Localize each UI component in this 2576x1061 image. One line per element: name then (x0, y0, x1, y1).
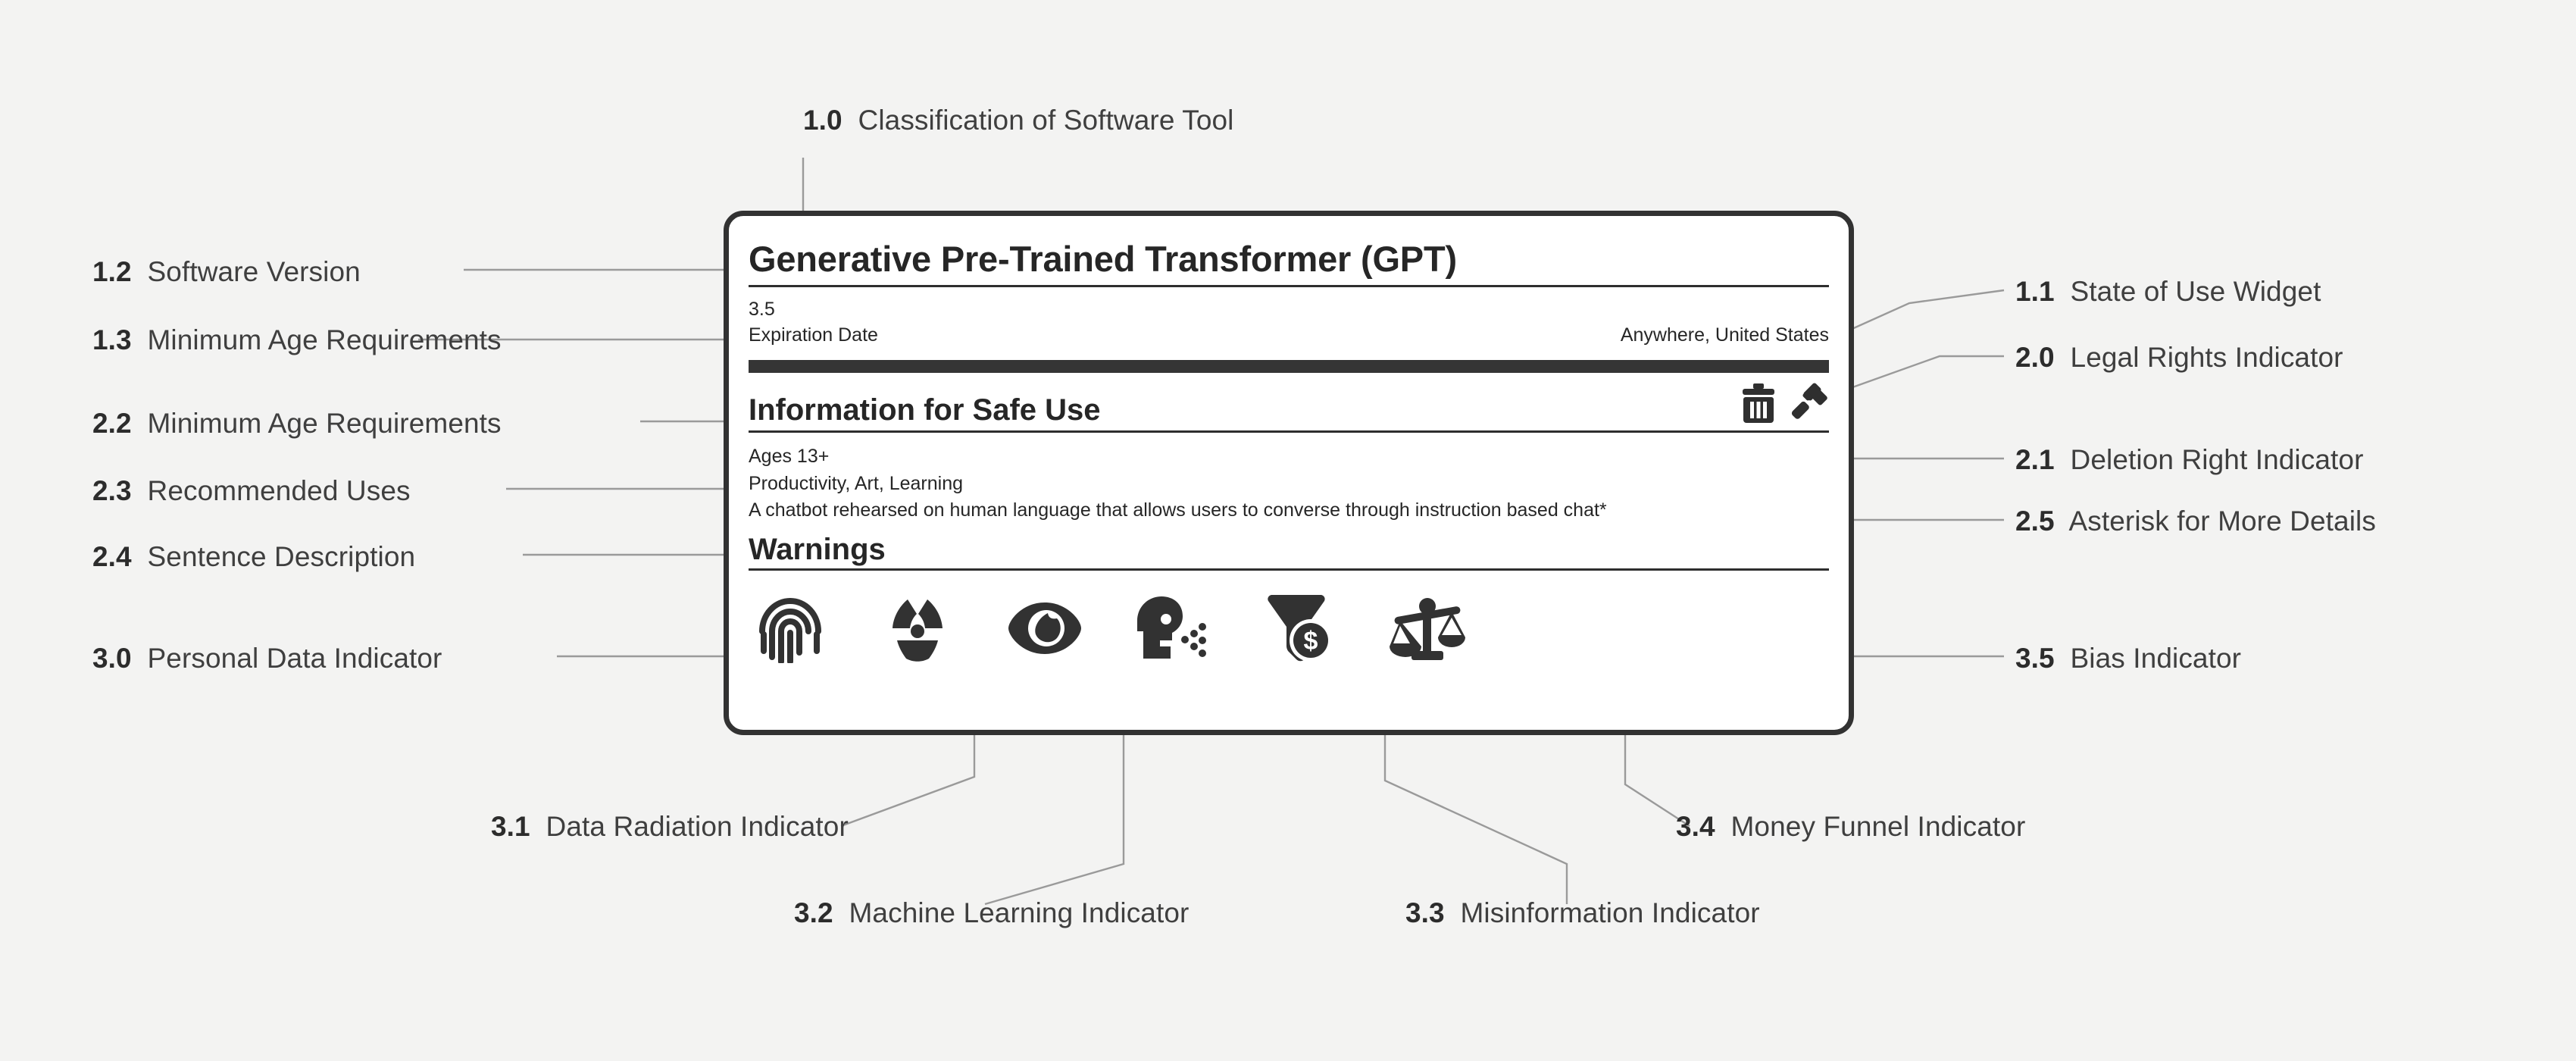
gavel-icon[interactable] (1788, 382, 1829, 424)
annotation-2-4: 2.4 Sentence Description (92, 543, 415, 571)
state-of-use-widget: Anywhere, United States (1621, 322, 1829, 348)
trash-icon[interactable] (1740, 382, 1777, 424)
safe-use-header: Information for Safe Use (749, 373, 1829, 430)
annotation-text: Minimum Age Requirements (148, 324, 502, 355)
annotation-text: Money Funnel Indicator (1731, 811, 2026, 842)
card-title: Generative Pre-Trained Transformer (GPT) (749, 230, 1829, 285)
eye-icon[interactable] (1003, 593, 1086, 663)
warnings-heading: Warnings (749, 534, 1829, 565)
warnings-header: Warnings (749, 524, 1829, 568)
software-version-value: 3.5 (749, 296, 775, 322)
card-meta: 3.5 Expiration Date Anywhere, United Sta… (749, 287, 1829, 348)
annotation-number: 1.1 (2015, 276, 2062, 307)
annotation-text: Asterisk for More Details (2068, 505, 2376, 537)
annotation-text: Recommended Uses (148, 475, 411, 506)
recommended-uses: Productivity, Art, Learning (749, 471, 1829, 498)
annotation-number: 3.4 (1676, 811, 1723, 842)
radiation-icon[interactable] (876, 593, 959, 663)
annotation-text: Data Radiation Indicator (546, 811, 849, 842)
fingerprint-icon[interactable] (749, 593, 832, 663)
money-funnel-icon[interactable]: $ (1258, 593, 1341, 663)
annotation-3-0: 3.0 Personal Data Indicator (92, 644, 442, 672)
annotation-1-2: 1.2 Software Version (92, 258, 361, 286)
software-nutrition-label-card: Generative Pre-Trained Transformer (GPT)… (724, 211, 1854, 735)
balance-scale-icon[interactable] (1385, 593, 1468, 663)
annotation-1-3: 1.3 Minimum Age Requirements (92, 326, 502, 354)
annotation-text: Misinformation Indicator (1461, 897, 1760, 928)
annotation-3-3: 3.3 Misinformation Indicator (1405, 899, 1760, 927)
annotation-number: 3.2 (794, 897, 841, 928)
expiration-row: Expiration Date Anywhere, United States (749, 322, 1829, 348)
safe-use-body: Ages 13+ Productivity, Art, Learning A c… (749, 433, 1829, 524)
annotation-number: 2.3 (92, 475, 139, 506)
annotation-number: 2.4 (92, 541, 139, 572)
annotation-2-1: 2.1 Deletion Right Indicator (2015, 446, 2364, 474)
annotation-number: 3.5 (2015, 643, 2062, 674)
annotation-text: Bias Indicator (2071, 643, 2242, 674)
annotation-number: 3.1 (491, 811, 538, 842)
annotation-text: Software Version (148, 256, 361, 287)
annotation-text: Machine Learning Indicator (849, 897, 1190, 928)
annotation-number: 2.0 (2015, 342, 2062, 373)
annotation-1-1: 1.1 State of Use Widget (2015, 277, 2321, 305)
annotation-text: Legal Rights Indicator (2071, 342, 2343, 373)
legal-rights-indicator-group (1740, 382, 1829, 424)
annotation-text: Deletion Right Indicator (2071, 444, 2364, 475)
annotation-2-0: 2.0 Legal Rights Indicator (2015, 343, 2343, 371)
annotation-text: Minimum Age Requirements (148, 408, 502, 439)
annotation-number: 1.3 (92, 324, 139, 355)
sentence-description: A chatbot rehearsed on human language th… (749, 497, 1829, 524)
annotation-3-2: 3.2 Machine Learning Indicator (794, 899, 1189, 927)
minimum-age-requirement: Ages 13+ (749, 443, 1829, 471)
annotation-2-3: 2.3 Recommended Uses (92, 477, 411, 505)
annotation-text: State of Use Widget (2071, 276, 2321, 307)
software-version-row: 3.5 (749, 296, 1829, 322)
annotation-number: 2.5 (2015, 505, 2062, 537)
annotation-3-5: 3.5 Bias Indicator (2015, 644, 2241, 672)
annotation-text: Personal Data Indicator (148, 643, 442, 674)
section-divider-bar (749, 360, 1829, 373)
speaking-head-icon[interactable] (1130, 593, 1214, 663)
warning-icons-row: $ (749, 571, 1829, 663)
annotation-3-1: 3.1 Data Radiation Indicator (491, 812, 849, 840)
annotation-number: 3.3 (1405, 897, 1452, 928)
annotation-text: Classification of Software Tool (858, 105, 1234, 136)
expiration-date-label: Expiration Date (749, 322, 878, 348)
annotation-3-4: 3.4 Money Funnel Indicator (1676, 812, 2025, 840)
annotation-2-2: 2.2 Minimum Age Requirements (92, 409, 502, 437)
annotation-2-5: 2.5 Asterisk for More Details (2015, 507, 2376, 535)
diagram-stage: 1.0 Classification of Software Tool 1.2 … (0, 0, 2576, 1061)
safe-use-heading: Information for Safe Use (749, 394, 1101, 426)
annotation-1-0: 1.0 Classification of Software Tool (803, 106, 1234, 134)
svg-text:$: $ (1304, 627, 1318, 656)
annotation-number: 2.1 (2015, 444, 2062, 475)
annotation-number: 1.2 (92, 256, 139, 287)
annotation-text: Sentence Description (148, 541, 416, 572)
annotation-number: 2.2 (92, 408, 139, 439)
annotation-number: 1.0 (803, 105, 850, 136)
annotation-number: 3.0 (92, 643, 139, 674)
